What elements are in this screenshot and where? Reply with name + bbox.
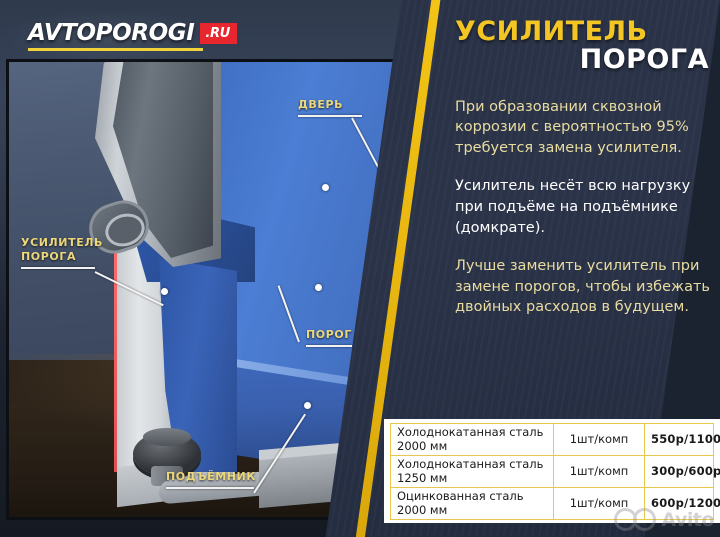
callout-door: ДВЕРЬ <box>298 98 362 117</box>
row-price: 600р/1200р <box>645 488 714 520</box>
callout-sill-rule <box>306 345 352 347</box>
callout-sill-dot <box>315 284 322 291</box>
row-quantity: 1шт/комп <box>554 424 645 456</box>
callout-door-dot <box>322 184 329 191</box>
table-row: Холоднокатанная сталь 2000 мм 1шт/комп 5… <box>391 424 714 456</box>
row-material: Холоднокатанная сталь 2000 мм <box>391 424 554 456</box>
price-table-container: Холоднокатанная сталь 2000 мм 1шт/комп 5… <box>384 419 720 523</box>
row-material: Оцинкованная сталь 2000 мм <box>391 488 554 520</box>
row-price: 550р/1100р <box>645 424 714 456</box>
table-row: Оцинкованная сталь 2000 мм 1шт/комп 600р… <box>391 488 714 520</box>
promo-banner: ДВЕРЬ УСИЛИТЕЛЬ ПОРОГА ПОРОГ ПОДЪЁМНИК У… <box>0 0 720 537</box>
row-quantity: 1шт/комп <box>554 456 645 488</box>
logo-wordmark: AVTOPOROGI <box>28 20 194 46</box>
row-material: Холоднокатанная сталь 1250 мм <box>391 456 554 488</box>
headline-block: УСИЛИТЕЛЬ ПОРОГА <box>455 0 713 75</box>
callout-lift-rule <box>166 487 254 489</box>
price-table: Холоднокатанная сталь 2000 мм 1шт/комп 5… <box>390 423 714 520</box>
paragraph-3: Лучше заменить усилитель при замене поро… <box>455 256 713 318</box>
callout-lift-label: ПОДЪЁМНИК <box>166 470 256 484</box>
table-row: Холоднокатанная сталь 1250 мм 1шт/комп 3… <box>391 456 714 488</box>
callout-lift-dot <box>304 402 311 409</box>
paragraph-2: Усилитель несёт всю нагрузку при подъёме… <box>455 176 713 238</box>
row-quantity: 1шт/комп <box>554 488 645 520</box>
callout-reinforcer-dot <box>161 288 168 295</box>
logo-row: AVTOPOROGI .RU <box>28 20 237 46</box>
callout-door-label: ДВЕРЬ <box>298 98 362 112</box>
headline-line-2: ПОРОГА <box>455 46 713 74</box>
lift-rubber-pad-top <box>143 428 191 446</box>
callout-reinforcer: УСИЛИТЕЛЬ ПОРОГА <box>21 236 103 269</box>
logo-underline <box>28 48 203 51</box>
callout-reinforcer-label: УСИЛИТЕЛЬ ПОРОГА <box>21 236 103 264</box>
callout-sill: ПОРОГ <box>306 328 352 347</box>
logo-tld-badge: .RU <box>200 23 237 44</box>
price-table-body: Холоднокатанная сталь 2000 мм 1шт/комп 5… <box>391 424 714 520</box>
callout-reinforcer-rule <box>21 267 95 269</box>
callout-lift: ПОДЪЁМНИК <box>166 470 256 489</box>
callout-sill-label: ПОРОГ <box>306 328 352 342</box>
site-logo[interactable]: AVTOPOROGI .RU <box>28 20 237 51</box>
paragraph-1: При образовании сквозной коррозии с веро… <box>455 97 713 159</box>
row-price: 300р/600р <box>645 456 714 488</box>
headline-line-1: УСИЛИТЕЛЬ <box>455 18 713 46</box>
